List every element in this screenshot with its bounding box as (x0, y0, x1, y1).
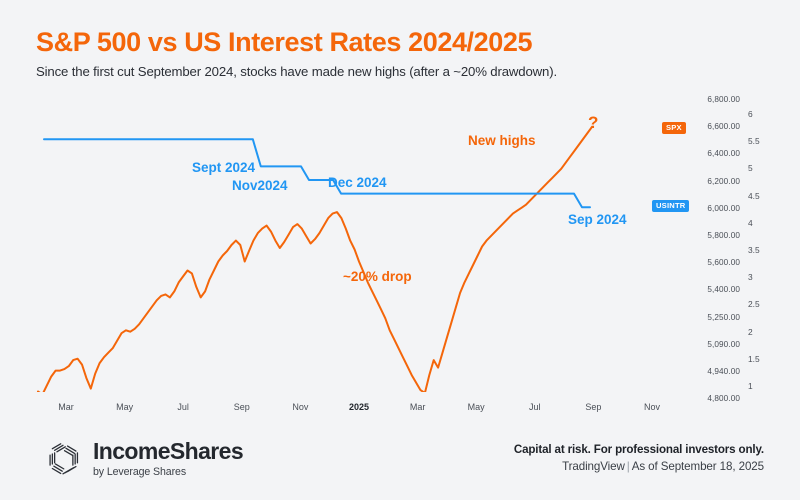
y-right-tick: 2.5 (748, 299, 760, 309)
source-name: TradingView (562, 460, 625, 473)
x-axis-dates: MarMayJulSepNov2025MarMayJulSepNov (0, 402, 800, 418)
brand-logo: IncomeShares by Leverage Shares (44, 440, 243, 478)
y-right-tick: 3.5 (748, 245, 760, 255)
source-separator: | (625, 460, 632, 473)
y-left-tick: 5,090.00 (707, 340, 740, 349)
y-right-tick: 3 (748, 272, 753, 282)
x-axis-tick: Jul (177, 402, 189, 412)
series-badge-spx[interactable]: SPX (662, 122, 686, 134)
y-right-tick: 4.5 (748, 191, 760, 201)
spx-line-series (38, 127, 592, 392)
y-left-tick: 5,250.00 (707, 313, 740, 322)
risk-disclaimer: Capital at risk. For professional invest… (514, 443, 764, 456)
incomeshares-logo-icon (44, 440, 82, 478)
y-left-tick: 5,400.00 (707, 285, 740, 294)
as-of-date: As of September 18, 2025 (632, 460, 764, 473)
y-left-tick: 5,600.00 (707, 258, 740, 267)
disclaimer-block: Capital at risk. For professional invest… (514, 443, 764, 473)
chart-card: S&P 500 vs US Interest Rates 2024/2025 S… (0, 0, 800, 500)
x-axis-tick: 2025 (349, 402, 369, 412)
x-axis-tick: Mar (410, 402, 426, 412)
y-right-tick: 5 (748, 163, 753, 173)
x-axis-tick: Mar (58, 402, 74, 412)
header: S&P 500 vs US Interest Rates 2024/2025 S… (36, 28, 557, 79)
y-right-tick: 5.5 (748, 136, 760, 146)
source-line: TradingView|As of September 18, 2025 (514, 460, 764, 473)
x-axis-tick: Nov (292, 402, 308, 412)
y-right-tick: 4 (748, 218, 753, 228)
series-badge-usintr[interactable]: USINTR (652, 200, 689, 212)
x-axis-tick: May (468, 402, 485, 412)
annotation-dec-2024: Dec 2024 (328, 175, 387, 190)
y-left-tick: 6,800.00 (707, 95, 740, 104)
y-left-tick: 6,000.00 (707, 204, 740, 213)
x-axis-tick: May (116, 402, 133, 412)
y-left-tick: 4,940.00 (707, 367, 740, 376)
x-axis-tick: Sep (585, 402, 601, 412)
x-axis-tick: Jul (529, 402, 541, 412)
y-left-tick: 6,200.00 (707, 177, 740, 186)
y-left-tick: 6,400.00 (707, 149, 740, 158)
annotation-new-highs: New highs (468, 133, 536, 148)
brand-name: IncomeShares (93, 440, 243, 463)
annotation-question: ? (588, 113, 598, 133)
page-title: S&P 500 vs US Interest Rates 2024/2025 (36, 28, 557, 57)
x-axis-tick: Sep (234, 402, 250, 412)
page-subtitle: Since the first cut September 2024, stoc… (36, 64, 557, 79)
annotation-sep-2024: Sep 2024 (568, 212, 627, 227)
y-right-tick: 1 (748, 381, 753, 391)
x-axis-tick: Nov (644, 402, 660, 412)
annotation-nov-2024: Nov2024 (232, 178, 288, 193)
y-right-tick: 2 (748, 327, 753, 337)
brand-tagline: by Leverage Shares (93, 466, 243, 478)
annotation-drop: ~20% drop (343, 269, 412, 284)
footer: IncomeShares by Leverage Shares Capital … (0, 432, 800, 500)
usintr-line-series (44, 139, 590, 207)
y-left-tick: 5,800.00 (707, 231, 740, 240)
chart-plot-area (0, 92, 800, 392)
y-left-tick: 6,600.00 (707, 122, 740, 131)
y-right-tick: 6 (748, 109, 753, 119)
chart-svg (0, 92, 800, 392)
annotation-sept-2024: Sept 2024 (192, 160, 255, 175)
y-right-tick: 1.5 (748, 354, 760, 364)
